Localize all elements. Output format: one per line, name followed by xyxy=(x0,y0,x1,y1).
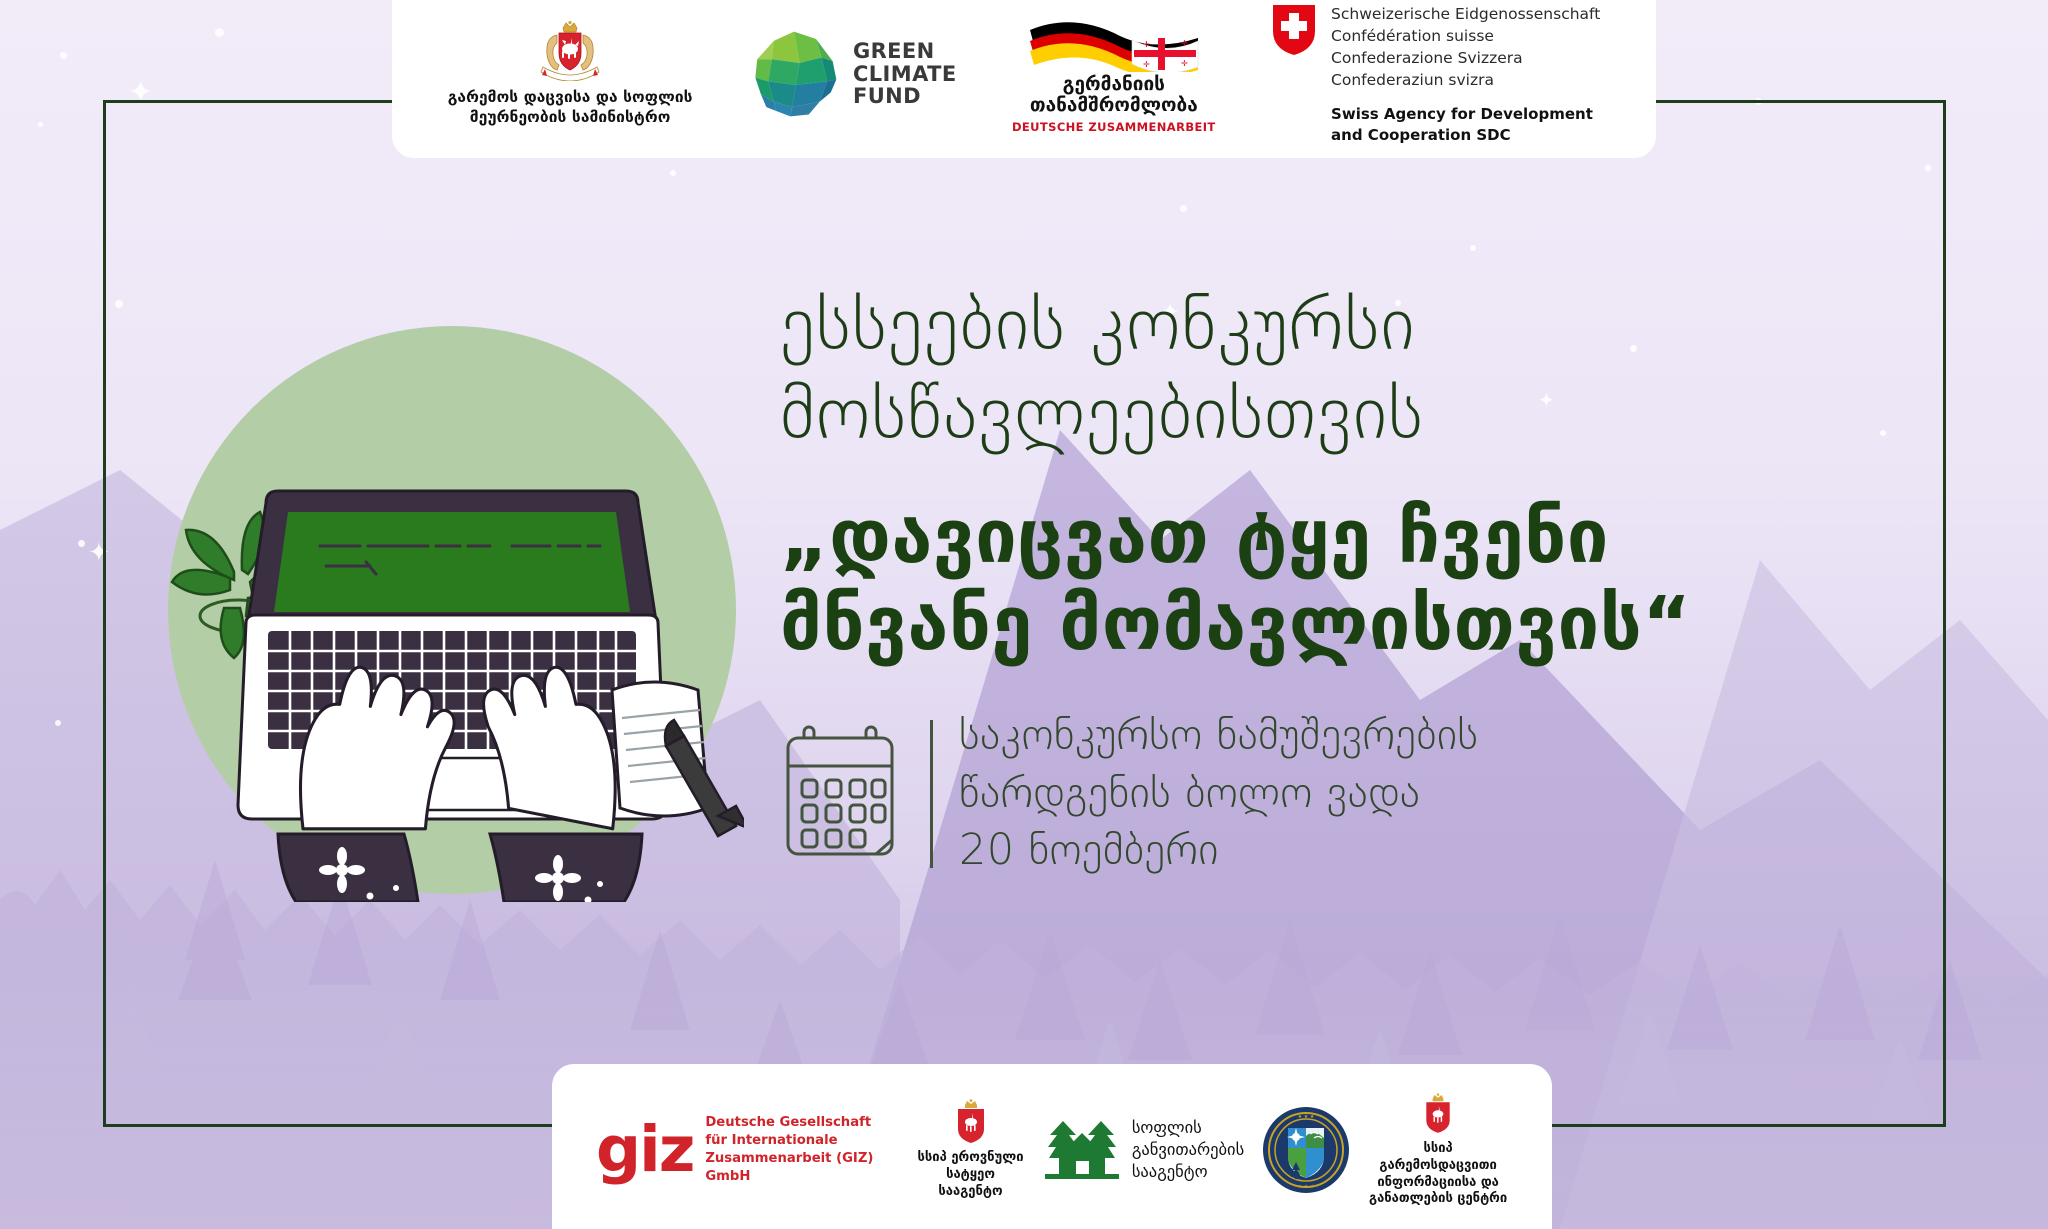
swiss-confederation-sdc-logo: Schweizerische Eidgenossenschaft Confédé… xyxy=(1271,3,1600,145)
swiss-sdc-agency-text: Swiss Agency for Development and Coopera… xyxy=(1331,104,1600,145)
sparkle-icon: ✦ xyxy=(88,540,110,566)
environmental-information-education-center-logo: სსიპ გარემოსდაცვითი ინფორმაციისა და განა… xyxy=(1368,1092,1508,1209)
svg-text:★ ★ ★: ★ ★ ★ xyxy=(1298,1114,1315,1120)
page-title: ესსეების კონკურსი მოსწავლეებისთვის xyxy=(780,280,1900,458)
main-content: ესსეების კონკურსი მოსწავლეებისთვის „დავი… xyxy=(780,280,1900,880)
giz-subtitle: Deutsche Gesellschaft für Internationale… xyxy=(705,1114,898,1185)
poster-root: ✦ ✦ ✦ ✦ ✦ ✦ xyxy=(0,0,2048,1229)
person-typing-on-laptop-illustration xyxy=(160,318,744,902)
ministry-of-environment-logo: გარემოს დაცვისა და სოფლის მეურნეობის სამ… xyxy=(448,21,693,128)
rural-development-agency-logo: სოფლის განვითარების სააგენტო xyxy=(1043,1117,1244,1182)
contest-slogan: „დავიცვათ ტყე ჩვენი მნვანე მომავლისთვის“ xyxy=(780,494,1900,667)
vertical-divider xyxy=(930,720,933,868)
sparkle-icon: ✦ xyxy=(128,78,153,108)
german-cooperation-logo: ✛✛ ✛✛ გერმანიის თანამშრომლობა DEUTSCHE Z… xyxy=(1012,14,1216,135)
bottom-partner-logos-bar: giz Deutsche Gesellschaft für Internatio… xyxy=(552,1064,1552,1229)
svg-text:✛: ✛ xyxy=(1181,39,1188,48)
eiec-seal-logo: ★ ★ ★ ★ ★ ★ xyxy=(1262,1106,1350,1194)
environmental-seal-icon: ★ ★ ★ ★ ★ ★ xyxy=(1262,1106,1350,1194)
gcf-globe-icon xyxy=(748,28,840,120)
giz-logo: giz Deutsche Gesellschaft für Internatio… xyxy=(596,1114,898,1185)
german-georgian-flag-ribbon-icon: ✛✛ ✛✛ xyxy=(1026,14,1202,72)
trees-house-icon xyxy=(1043,1119,1121,1181)
ministry-logo-text: გარემოს დაცვისა და სოფლის მეურნეობის სამ… xyxy=(448,87,693,128)
svg-text:✛: ✛ xyxy=(1181,59,1188,68)
svg-text:★ ★ ★: ★ ★ ★ xyxy=(1298,1184,1315,1190)
top-partner-logos-bar: გარემოს დაცვისა და სოფლის მეურნეობის სამ… xyxy=(392,0,1656,158)
svg-text:✛: ✛ xyxy=(1143,60,1150,69)
georgia-coat-of-arms-icon xyxy=(537,21,603,81)
national-forestry-agency-text: სსიპ ეროვნული სატყეო სააგენტო xyxy=(916,1150,1025,1201)
german-cooperation-ka-text: გერმანიის თანამშრომლობა xyxy=(1030,74,1198,116)
rural-development-agency-text: სოფლის განვითარების სააგენტო xyxy=(1132,1117,1244,1182)
georgia-small-crest-icon xyxy=(1420,1092,1456,1134)
submission-deadline-text: საკონკურსო ნამუშევრების წარდგენის ბოლო ვ… xyxy=(959,707,1478,880)
green-climate-fund-logo: GREEN CLIMATE FUND xyxy=(748,28,957,120)
swiss-shield-icon xyxy=(1271,3,1317,57)
giz-wordmark: giz xyxy=(596,1125,693,1175)
gcf-logo-text: GREEN CLIMATE FUND xyxy=(853,40,957,108)
calendar-icon xyxy=(780,722,904,866)
georgia-small-crest-icon xyxy=(951,1099,991,1143)
svg-text:✛: ✛ xyxy=(1143,40,1150,49)
eiec-text: სსიპ გარემოსდაცვითი ინფორმაციისა და განა… xyxy=(1368,1141,1508,1209)
german-cooperation-de-text: DEUTSCHE ZUSAMMENARBEIT xyxy=(1012,120,1216,134)
national-forestry-agency-logo: სსიპ ეროვნული სატყეო სააგენტო xyxy=(916,1099,1025,1201)
swiss-confederation-languages: Schweizerische Eidgenossenschaft Confédé… xyxy=(1331,3,1600,91)
deadline-block: საკონკურსო ნამუშევრების წარდგენის ბოლო ვ… xyxy=(780,707,1900,880)
